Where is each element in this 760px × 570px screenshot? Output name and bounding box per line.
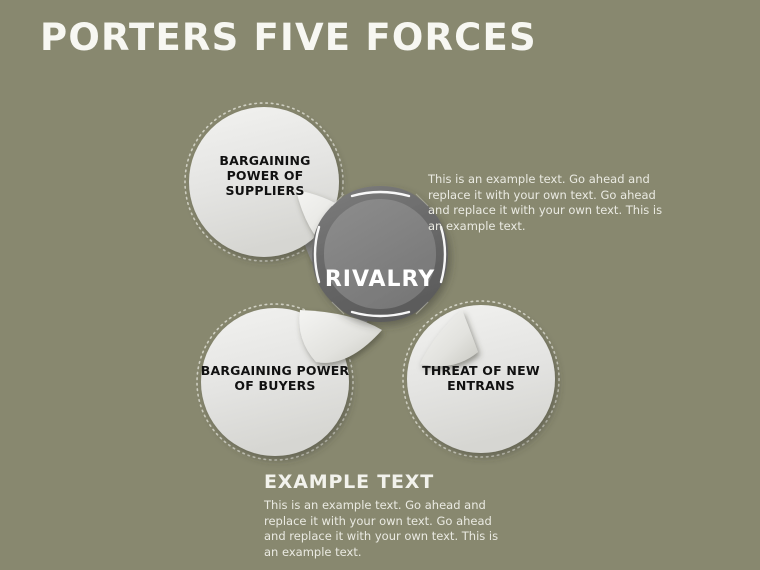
bottom-text-block: EXAMPLE TEXT This is an example text. Go… <box>264 470 514 560</box>
center-inner-face <box>324 199 436 309</box>
bottom-description-text: This is an example text. Go ahead and re… <box>264 498 514 560</box>
slide-canvas: PORTERS FIVE FORCES <box>0 0 760 570</box>
side-description-text: This is an example text. Go ahead and re… <box>428 172 666 234</box>
disc-entrants <box>407 305 555 453</box>
bottom-heading: EXAMPLE TEXT <box>264 470 514 494</box>
